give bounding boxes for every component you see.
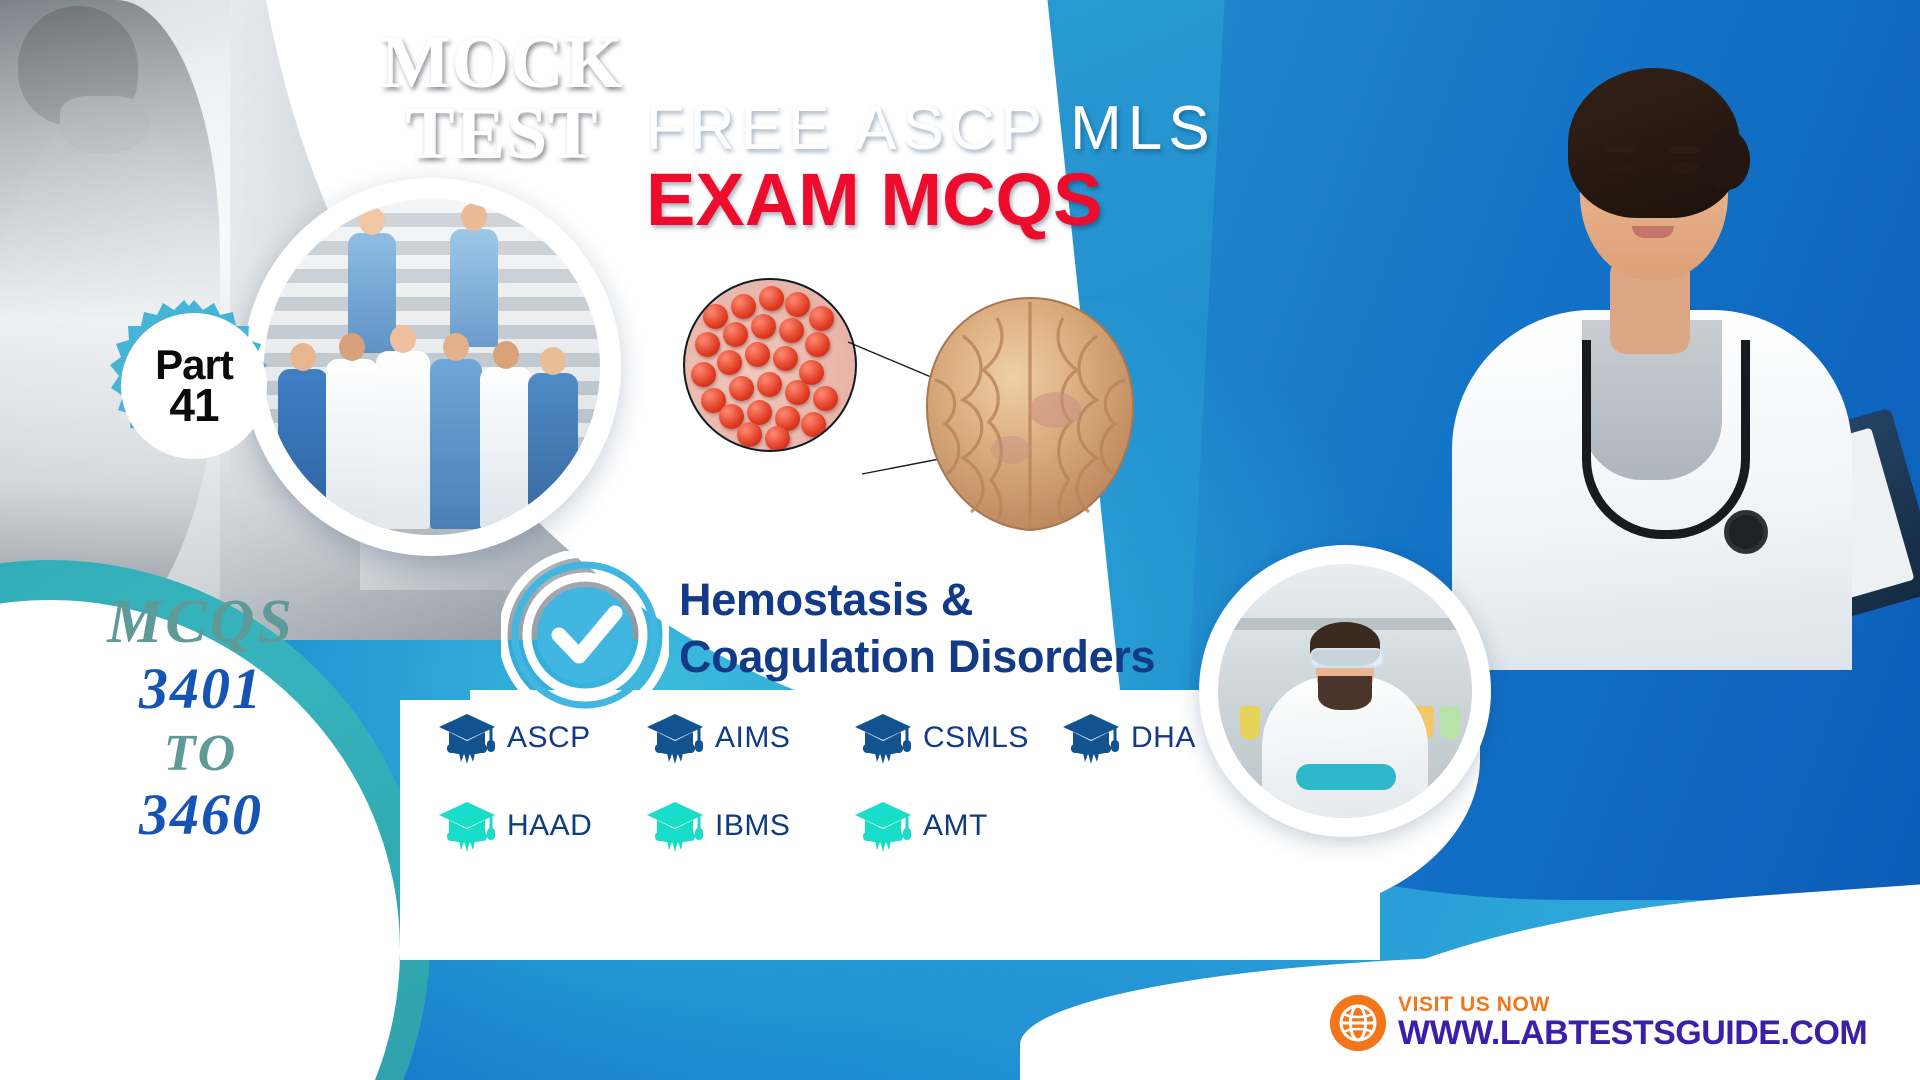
mcqs-range-block: MCQS 3401 TO 3460 xyxy=(56,590,346,848)
graduation-cap-icon xyxy=(645,800,705,852)
team-member xyxy=(528,373,578,529)
team-photo-ring xyxy=(243,178,621,556)
certification-item: ASCP xyxy=(437,712,645,764)
graduation-cap-icon xyxy=(853,800,913,852)
doctor-brow xyxy=(1668,146,1700,153)
graduation-cap-icon xyxy=(437,800,497,852)
certification-label: AIMS xyxy=(715,721,790,755)
footer-url-bar[interactable]: VISIT US NOW WWW.LABTESTSGUIDE.COM xyxy=(1330,994,1867,1052)
mcqs-range-from: 3401 xyxy=(56,655,346,723)
blood-cells-magnifier xyxy=(683,278,857,452)
scientist-gloves xyxy=(1296,764,1396,790)
team-member xyxy=(430,359,482,529)
mock-test-title: MOCK TEST xyxy=(352,28,652,170)
team-member xyxy=(450,229,498,347)
graduation-cap-icon xyxy=(1061,712,1121,764)
doctor-hair-bun xyxy=(1704,130,1750,190)
headline-secondary: EXAM MCQS xyxy=(646,163,1216,237)
graduation-cap-icon xyxy=(645,712,705,764)
graduation-cap-icon xyxy=(853,712,913,764)
headline-primary: FREE ASCP MLS xyxy=(646,96,1216,161)
team-member xyxy=(376,351,430,529)
mock-test-line-2: TEST xyxy=(352,99,652,170)
certification-item: AMT xyxy=(853,800,1061,852)
graduation-cap-icon xyxy=(437,712,497,764)
globe-icon xyxy=(1330,995,1386,1051)
scientist-photo xyxy=(1218,564,1472,818)
mock-test-line-1: MOCK xyxy=(352,28,652,99)
headline-block: FREE ASCP MLS EXAM MCQS xyxy=(646,96,1216,237)
certifications-block: ASCP AIMS xyxy=(437,694,1297,870)
subtitle-block: Hemostasis & Coagulation Disorders xyxy=(679,572,1155,685)
doctor-mouth xyxy=(1632,226,1674,238)
certification-row-two: HAAD IBMS xyxy=(437,782,1297,870)
poster-canvas: MOCK TEST FREE ASCP MLS EXAM MCQS Part 4… xyxy=(0,0,1920,1080)
certification-label: CSMLS xyxy=(923,721,1029,755)
stethoscope-icon xyxy=(1582,340,1750,539)
team-member xyxy=(278,369,328,529)
doctor-eye xyxy=(1672,162,1698,173)
doctor-brow xyxy=(1604,146,1636,153)
certification-label: AMT xyxy=(923,809,988,843)
certification-label: ASCP xyxy=(507,721,591,755)
certification-item: CSMLS xyxy=(853,712,1061,764)
certification-label: IBMS xyxy=(715,809,790,843)
part-badge: Part 41 xyxy=(108,300,280,472)
certification-row-one: ASCP AIMS xyxy=(437,694,1297,782)
badge-inner-circle: Part 41 xyxy=(121,313,267,459)
mcqs-range-to-label: TO xyxy=(56,724,346,783)
certification-item: AIMS xyxy=(645,712,853,764)
mcqs-range-to: 3460 xyxy=(56,783,346,848)
team-photo xyxy=(264,199,600,535)
safety-goggles-icon xyxy=(1310,648,1384,668)
brain-illustration xyxy=(905,290,1155,540)
subtitle-line-2: Coagulation Disorders xyxy=(679,629,1155,686)
certification-label: HAAD xyxy=(507,809,592,843)
subtitle-line-1: Hemostasis & xyxy=(679,572,1155,629)
website-url[interactable]: WWW.LABTESTSGUIDE.COM xyxy=(1398,1016,1867,1052)
scientist-beard xyxy=(1318,676,1372,710)
visit-us-now-label: VISIT US NOW xyxy=(1398,994,1867,1016)
team-member xyxy=(326,359,378,529)
doctor-eye xyxy=(1608,162,1634,173)
certification-label: DHA xyxy=(1131,721,1196,755)
team-member xyxy=(480,367,532,529)
badge-number: 41 xyxy=(169,384,218,426)
mcqs-label: MCQS xyxy=(56,590,346,655)
certification-item: IBMS xyxy=(645,800,853,852)
scientist-photo-ring xyxy=(1199,545,1491,837)
certification-item: HAAD xyxy=(437,800,645,852)
doctor-photo xyxy=(1432,10,1862,650)
stethoscope-bell xyxy=(1724,510,1768,554)
